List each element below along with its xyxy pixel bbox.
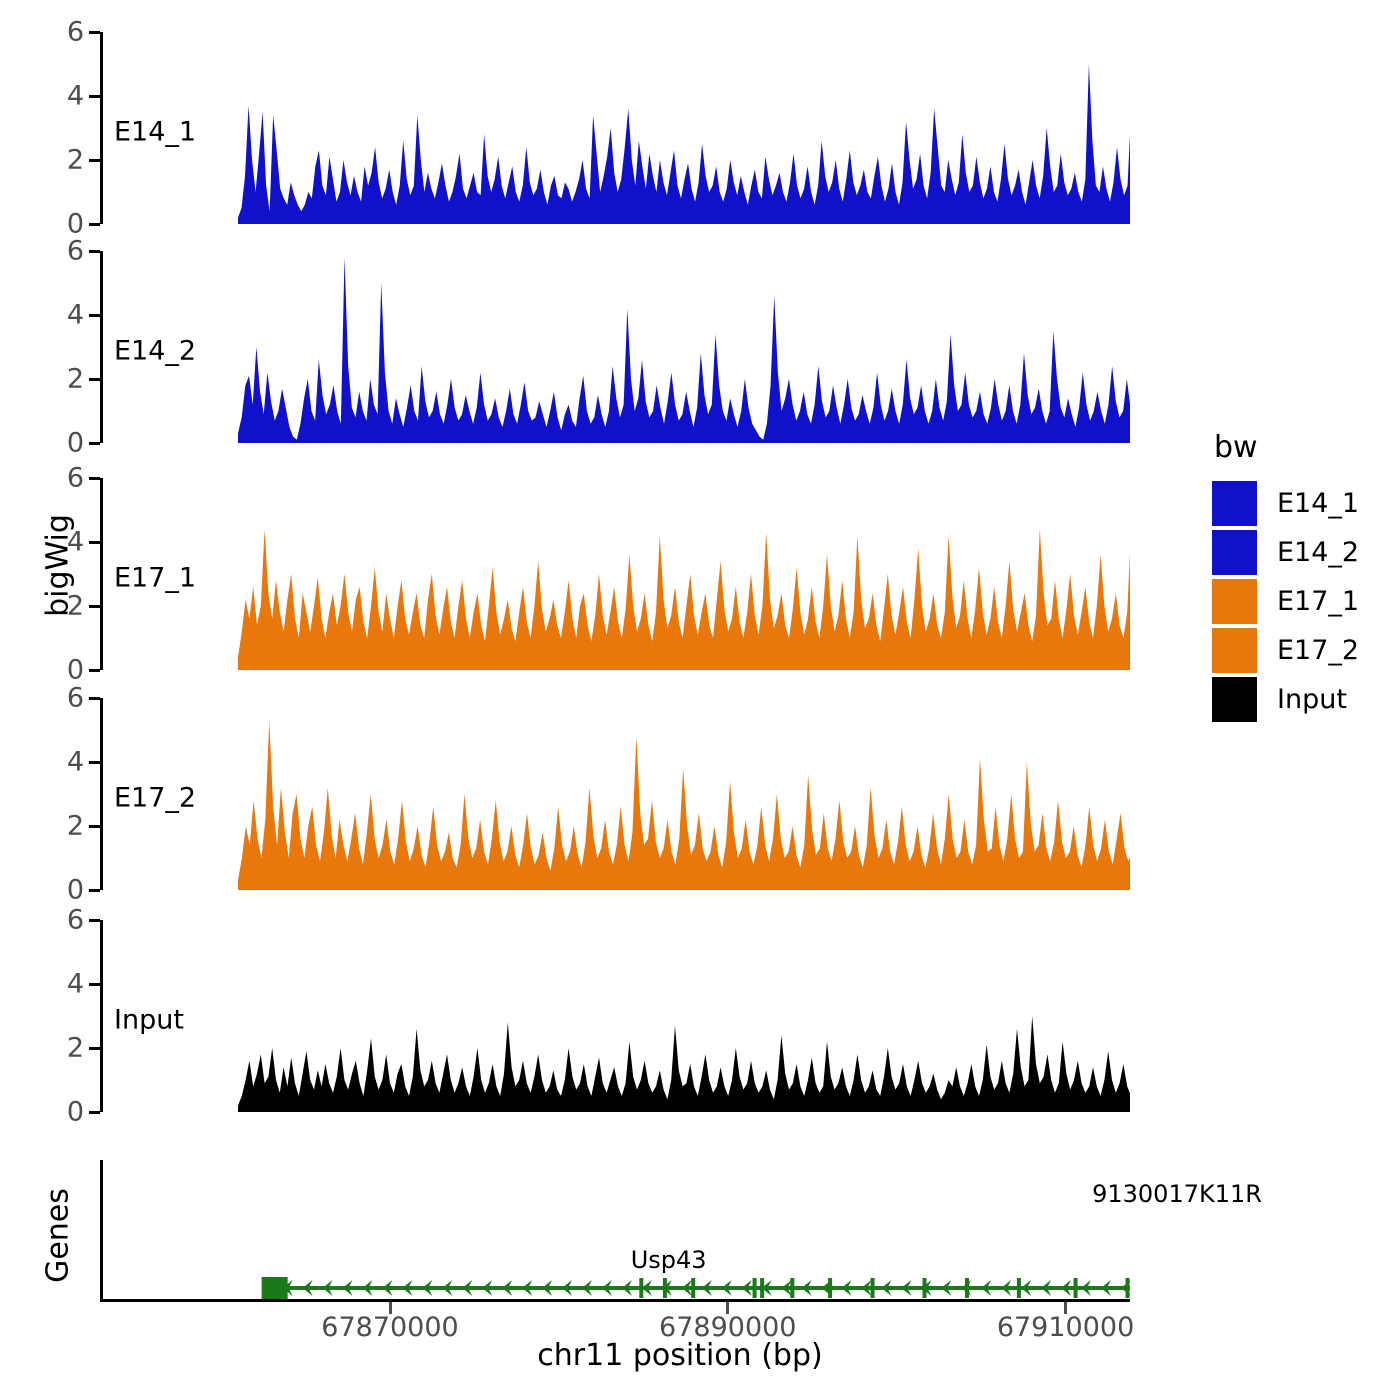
genes-track-panel: 9130017K11RUsp43: [100, 1160, 1130, 1300]
y-tick: [89, 223, 100, 226]
y-tick: [89, 919, 100, 922]
signal-area-e17_2: [100, 698, 1130, 890]
y-tick-label: 4: [24, 969, 84, 1000]
y-tick: [89, 159, 100, 162]
gene-models: [100, 1160, 1130, 1300]
gene-label-9130017k11r: 9130017K11R: [1092, 1180, 1262, 1208]
signal-area-e14_2: [100, 251, 1130, 443]
legend-item-e14_1[interactable]: E14_1: [1212, 479, 1397, 528]
legend-items: E14_1E14_2E17_1E17_2Input: [1212, 479, 1397, 724]
x-tick-label: 67890000: [659, 1312, 796, 1343]
y-tick-label: 6: [24, 905, 84, 936]
signal-area-input: [100, 920, 1130, 1112]
y-tick: [89, 541, 100, 544]
track-panel-e17_1: 0246E17_1: [100, 478, 1130, 670]
y-tick-label: 4: [24, 81, 84, 112]
legend-item-label: E14_2: [1277, 537, 1359, 568]
y-tick-label: 6: [24, 17, 84, 48]
y-tick-label: 0: [24, 875, 84, 906]
legend-swatch-icon: [1212, 579, 1257, 624]
y-tick: [89, 825, 100, 828]
legend-item-label: E17_2: [1277, 635, 1359, 666]
y-tick-label: 2: [24, 1033, 84, 1064]
y-tick-label: 6: [24, 463, 84, 494]
y-tick-label: 0: [24, 1097, 84, 1128]
y-tick: [89, 95, 100, 98]
x-tick-label: 67870000: [321, 1312, 458, 1343]
y-tick: [89, 250, 100, 253]
legend-swatch-icon: [1212, 530, 1257, 575]
track-panel-e14_2: 0246E14_2: [100, 251, 1130, 443]
legend-swatch-icon: [1212, 481, 1257, 526]
y-tick: [89, 442, 100, 445]
y-tick: [89, 1047, 100, 1050]
x-tick-label: 67910000: [997, 1312, 1134, 1343]
legend: bw E14_1E14_2E17_1E17_2Input: [1212, 430, 1397, 724]
y-tick-label: 2: [24, 811, 84, 842]
y-tick: [89, 669, 100, 672]
y-tick: [89, 378, 100, 381]
legend-item-e17_2[interactable]: E17_2: [1212, 626, 1397, 675]
y-tick: [89, 983, 100, 986]
y-axis-title-genes: Genes: [41, 1156, 76, 1316]
x-axis-line: [100, 1299, 1130, 1302]
y-tick: [89, 605, 100, 608]
legend-item-input[interactable]: Input: [1212, 675, 1397, 724]
legend-item-label: E14_1: [1277, 488, 1359, 519]
signal-area-e17_1: [100, 478, 1130, 670]
y-tick-label: 4: [24, 300, 84, 331]
y-tick: [89, 889, 100, 892]
legend-item-e14_2[interactable]: E14_2: [1212, 528, 1397, 577]
legend-swatch-icon: [1212, 677, 1257, 722]
legend-item-label: Input: [1277, 684, 1347, 715]
track-panel-e14_1: 0246E14_1: [100, 32, 1130, 224]
y-tick-label: 6: [24, 236, 84, 267]
y-tick-label: 4: [24, 747, 84, 778]
legend-title: bw: [1214, 430, 1397, 465]
y-tick-label: 0: [24, 655, 84, 686]
track-panel-e17_2: 0246E17_2: [100, 698, 1130, 890]
y-tick: [89, 314, 100, 317]
y-tick-label: 6: [24, 683, 84, 714]
y-tick-label: 4: [24, 527, 84, 558]
y-tick-label: 2: [24, 364, 84, 395]
legend-item-e17_1[interactable]: E17_1: [1212, 577, 1397, 626]
genome-browser-figure: bigWig Genes chr11 position (bp) 0246E14…: [0, 0, 1400, 1400]
y-tick: [89, 697, 100, 700]
y-tick: [89, 1111, 100, 1114]
legend-swatch-icon: [1212, 628, 1257, 673]
track-panel-input: 0246Input: [100, 920, 1130, 1112]
y-tick-label: 2: [24, 145, 84, 176]
y-tick-label: 2: [24, 591, 84, 622]
signal-area-e14_1: [100, 32, 1130, 224]
y-axis-title-bigwig: bigWig: [41, 486, 76, 646]
gene-label-usp43: Usp43: [631, 1246, 707, 1274]
y-tick: [89, 761, 100, 764]
y-tick: [89, 31, 100, 34]
x-axis-title: chr11 position (bp): [200, 1338, 1160, 1373]
y-tick: [89, 477, 100, 480]
legend-item-label: E17_1: [1277, 586, 1359, 617]
y-tick-label: 0: [24, 428, 84, 459]
